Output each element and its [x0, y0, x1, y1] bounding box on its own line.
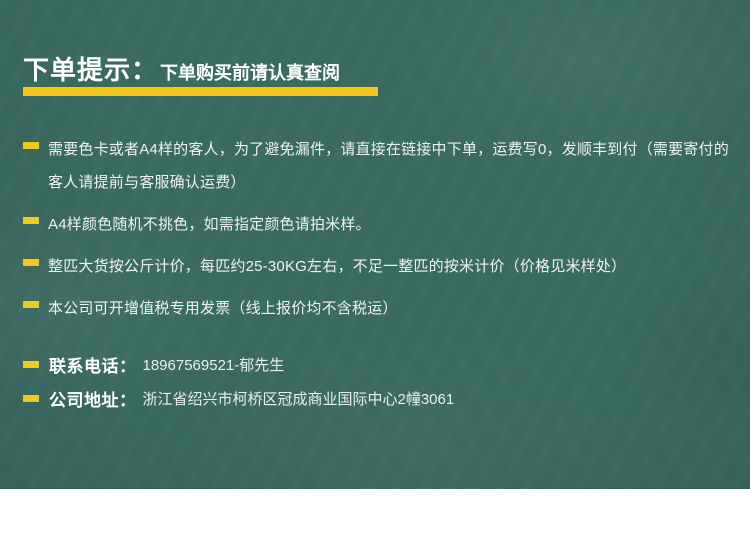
list-item: 需要色卡或者A4样的客人，为了避免漏件，请直接在链接中下单，运费写0，发顺丰到付… [23, 133, 729, 199]
list-item: 整匹大货按公斤计价，每匹约25-30KG左右，不足一整匹的按米计价（价格见米样处… [23, 250, 729, 283]
notes-list: 需要色卡或者A4样的客人，为了避免漏件，请直接在链接中下单，运费写0，发顺丰到付… [23, 133, 729, 334]
dash-bullet-icon [23, 395, 39, 402]
contact-phone-value: 18967569521-郁先生 [143, 354, 285, 375]
contact-address-value: 浙江省绍兴市柯桥区冠成商业国际中心2幢3061 [143, 388, 455, 409]
list-item: A4样颜色随机不挑色，如需指定颜色请拍米样。 [23, 208, 729, 241]
contact-address-label: 公司地址： [49, 386, 137, 411]
title-underline-bar [23, 87, 378, 96]
dash-bullet-icon [23, 361, 39, 368]
header: 下单提示： 下单购买前请认真查阅 [23, 57, 340, 97]
contact-block: 联系电话： 18967569521-郁先生 公司地址： 浙江省绍兴市柯桥区冠成商… [23, 352, 729, 420]
dash-bullet-icon [23, 142, 39, 149]
contact-address-row: 公司地址： 浙江省绍兴市柯桥区冠成商业国际中心2幢3061 [23, 386, 729, 411]
note-text: 需要色卡或者A4样的客人，为了避免漏件，请直接在链接中下单，运费写0，发顺丰到付… [48, 133, 729, 199]
page-title: 下单提示： [23, 57, 158, 83]
promo-banner-page: 下单提示： 下单购买前请认真查阅 需要色卡或者A4样的客人，为了避免漏件，请直接… [0, 0, 750, 558]
page-subtitle: 下单购买前请认真查阅 [160, 64, 340, 82]
title-group: 下单提示： 下单购买前请认真查阅 [23, 57, 340, 83]
note-text: A4样颜色随机不挑色，如需指定颜色请拍米样。 [48, 208, 729, 241]
dash-bullet-icon [23, 301, 39, 308]
note-text: 整匹大货按公斤计价，每匹约25-30KG左右，不足一整匹的按米计价（价格见米样处… [48, 250, 729, 283]
contact-phone-row: 联系电话： 18967569521-郁先生 [23, 352, 729, 377]
list-item: 本公司可开增值税专用发票（线上报价均不含税运） [23, 292, 729, 325]
dash-bullet-icon [23, 259, 39, 266]
contact-phone-label: 联系电话： [49, 352, 137, 377]
note-text: 本公司可开增值税专用发票（线上报价均不含税运） [48, 292, 729, 325]
dash-bullet-icon [23, 217, 39, 224]
